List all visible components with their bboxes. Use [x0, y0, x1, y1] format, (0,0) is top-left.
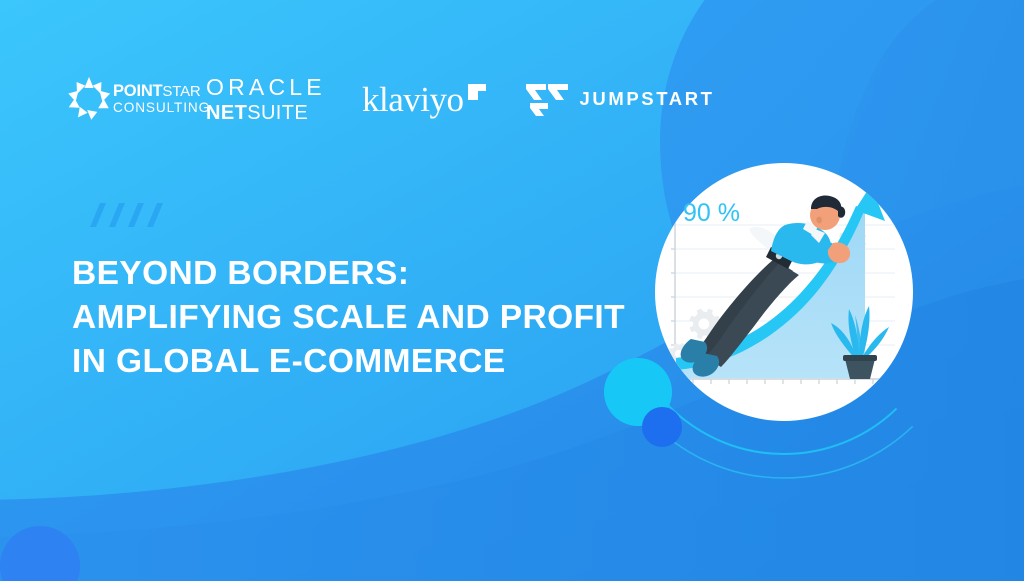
- headline-line-1: Beyond Borders:: [72, 252, 652, 296]
- growth-chart-illustration: 90 %: [655, 163, 913, 421]
- headline-line-2: Amplifying Scale and Profit: [72, 296, 652, 340]
- decorative-slashes: [82, 203, 166, 227]
- logo-oracle-netsuite: ORACLE NETSUITE: [206, 68, 336, 130]
- netsuite-suite: SUITE: [247, 102, 308, 124]
- flag-mark-icon: [466, 82, 488, 102]
- illustration-circle: 90 %: [655, 163, 913, 421]
- pointstar-consulting-text: CONSULTING: [113, 101, 210, 115]
- promotional-banner: POINTSTAR CONSULTING ORACLE NETSUITE kla…: [0, 0, 1024, 581]
- double-chevron-seven-icon: [526, 82, 570, 116]
- stat-label: 90 %: [683, 199, 740, 227]
- pointstar-wordmark: POINTSTAR CONSULTING: [113, 83, 210, 115]
- pointstar-point: POINT: [113, 82, 162, 100]
- netsuite-net: NET: [206, 102, 247, 124]
- sunburst-star-icon: [66, 76, 112, 122]
- logo-jumpstart: JUMPSTART: [526, 68, 714, 130]
- headline-line-3: in Global E-Commerce: [72, 340, 652, 384]
- oracle-wordmark: ORACLE: [206, 76, 326, 99]
- pointstar-star: STAR: [162, 83, 200, 100]
- netsuite-wordmark: NETSUITE: [206, 103, 308, 123]
- logo-klaviyo: klaviyo: [362, 68, 488, 130]
- partner-logo-strip: POINTSTAR CONSULTING ORACLE NETSUITE kla…: [66, 68, 715, 130]
- jumpstart-wordmark: JUMPSTART: [579, 88, 714, 110]
- page-title: Beyond Borders: Amplifying Scale and Pro…: [72, 252, 652, 385]
- klaviyo-wordmark: klaviyo: [362, 82, 463, 117]
- logo-pointstar-consulting: POINTSTAR CONSULTING: [66, 68, 184, 130]
